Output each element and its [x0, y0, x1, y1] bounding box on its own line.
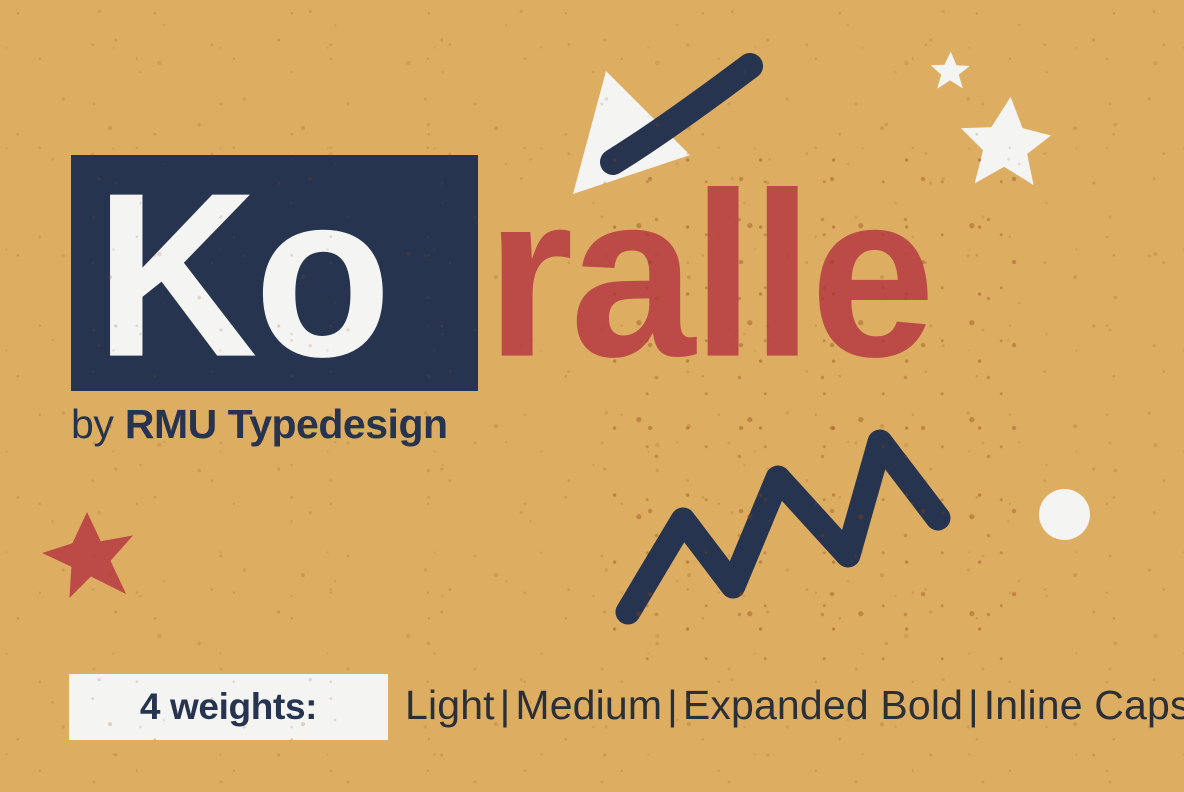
weights-badge-label: 4 weights: — [140, 688, 317, 725]
weight-item-expanded-bold: Expanded Bold — [683, 682, 963, 728]
arrow-icon — [560, 40, 785, 215]
wordmark-box — [71, 155, 478, 391]
star-icon — [930, 50, 970, 90]
weights-separator: | — [662, 682, 683, 728]
byline-prefix: by — [71, 401, 113, 447]
zigzag-icon — [608, 420, 963, 635]
weights-separator: | — [495, 682, 516, 728]
star-icon — [960, 95, 1052, 187]
circle-icon — [1039, 489, 1090, 540]
weight-item-medium: Medium — [515, 682, 662, 728]
byline: by RMU Typedesign — [71, 404, 448, 445]
weight-item-inline-caps: Inline Caps — [984, 682, 1184, 728]
weights-separator: | — [963, 682, 984, 728]
weights-list: Light|Medium|Expanded Bold|Inline Caps — [405, 678, 1184, 733]
weight-item-light: Light — [405, 682, 495, 728]
star-icon — [40, 510, 138, 600]
byline-studio: RMU Typedesign — [125, 401, 448, 447]
type-specimen-poster: Ko ralle by RMU Typedesign 4 weights: Li… — [0, 0, 1184, 792]
weights-badge: 4 weights: — [69, 674, 388, 740]
